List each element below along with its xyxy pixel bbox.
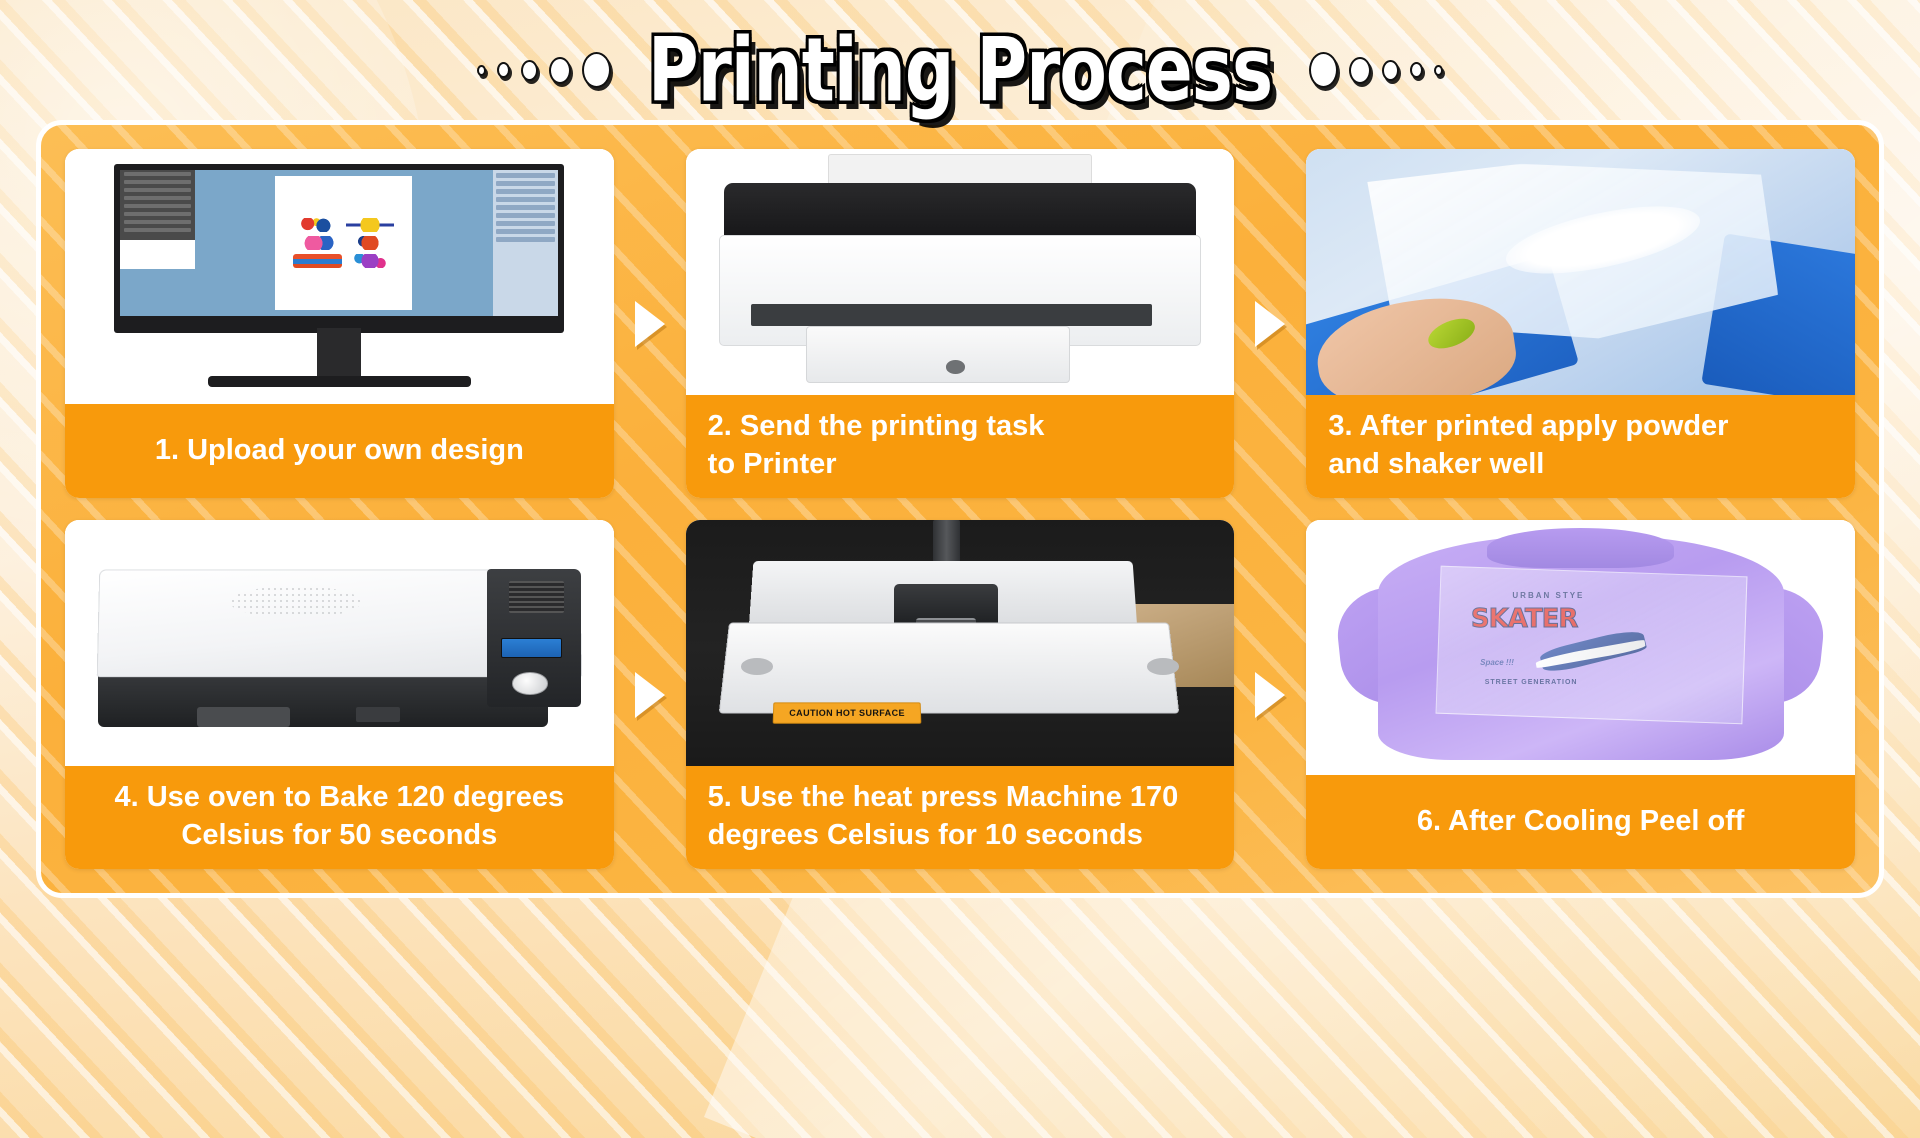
design-artwork: [346, 218, 395, 232]
step-5-caption: 5. Use the heat press Machine 170 degree…: [686, 766, 1235, 869]
step-3-caption: 3. After printed apply powder and shaker…: [1306, 395, 1855, 498]
step-card-3[interactable]: 3. After printed apply powder and shaker…: [1306, 149, 1855, 498]
design-artwork: [293, 254, 342, 268]
printer-lid: [724, 183, 1196, 240]
printer-knob: [946, 360, 965, 373]
steps-panel: 1. Upload your own design: [36, 120, 1884, 898]
step-card-2[interactable]: 2. Send the printing task to Printer: [686, 149, 1235, 498]
arrow-right-icon: [1255, 672, 1285, 718]
printer-output-tray: [806, 326, 1069, 383]
press-knob-left: [741, 658, 774, 675]
design-artwork: [293, 236, 342, 250]
oven-latch: [356, 707, 400, 722]
software-properties-panel: [493, 170, 559, 315]
title-dots-right: [1309, 52, 1443, 88]
oven-grill: [509, 581, 564, 613]
steps-grid: 1. Upload your own design: [41, 125, 1879, 893]
hoodie-icon: URBAN STYE SKATER Space !!! STREET GENER…: [1306, 520, 1855, 775]
step-4-caption-line-1: 4. Use oven to Bake 120 degrees: [87, 778, 592, 817]
hoodie-hood: [1487, 528, 1674, 569]
infographic-page: Printing Process: [0, 0, 1920, 1138]
step-6-caption: 6. After Cooling Peel off: [1306, 775, 1855, 869]
arrow-right-icon: [635, 301, 665, 347]
arrow-right-icon: [1255, 301, 1285, 347]
step-card-6[interactable]: URBAN STYE SKATER Space !!! STREET GENER…: [1306, 520, 1855, 869]
step-6-caption-line-1: 6. After Cooling Peel off: [1328, 802, 1833, 841]
step-1-caption-line-1: 1. Upload your own design: [87, 431, 592, 470]
oven-power-button[interactable]: [512, 672, 548, 694]
oven-base: [98, 672, 548, 726]
title-dot-icon: [1410, 62, 1423, 78]
software-canvas: [195, 170, 493, 315]
title-dot-icon: [521, 60, 538, 81]
title-dot-icon: [582, 52, 611, 88]
step-5-caption-line-1: 5. Use the heat press Machine 170: [708, 778, 1213, 817]
design-sheet: [275, 176, 412, 310]
step-4-caption: 4. Use oven to Bake 120 degrees Celsius …: [65, 766, 614, 869]
monitor-display: [120, 170, 558, 315]
step-4-caption-line-2: Celsius for 50 seconds: [87, 816, 592, 855]
curing-oven-icon: [65, 520, 614, 766]
title-dot-icon: [1382, 60, 1399, 81]
title-dot-icon: [1349, 57, 1371, 84]
step-4-photo: [65, 520, 614, 766]
title-dot-icon: [497, 62, 510, 78]
title-dot-icon: [1434, 65, 1443, 76]
step-2-caption-line-1: 2. Send the printing task: [708, 407, 1213, 446]
computer-monitor-icon: [65, 149, 614, 404]
step-5-photo: CAUTION HOT SURFACE: [686, 520, 1235, 766]
press-lower-platen: [719, 623, 1180, 714]
arrow-right-icon: [635, 672, 665, 718]
step-1-caption: 1. Upload your own design: [65, 404, 614, 498]
oven-lcd-display: [501, 638, 561, 658]
step-6-photo: URBAN STYE SKATER Space !!! STREET GENER…: [1306, 520, 1855, 775]
title-dots-left: [477, 52, 611, 88]
title-dot-icon: [1309, 52, 1338, 88]
step-5-caption-line-2: degrees Celsius for 10 seconds: [708, 816, 1213, 855]
powder-film-icon: [1306, 149, 1855, 395]
peel-off-film: [1436, 566, 1748, 725]
printer-icon: [686, 149, 1235, 395]
step-3-caption-line-2: and shaker well: [1328, 445, 1833, 484]
title-dot-icon: [477, 65, 486, 76]
design-artwork: [293, 218, 342, 232]
press-knob-right: [1147, 658, 1180, 675]
monitor-screen: [114, 164, 564, 332]
arrow-separator-4: [1234, 520, 1306, 869]
monitor-stand-base: [208, 376, 471, 387]
page-title: Printing Process: [642, 19, 1278, 121]
step-2-photo: [686, 149, 1235, 395]
step-3-photo: [1306, 149, 1855, 395]
page-title-row: Printing Process: [0, 22, 1920, 118]
heat-press-icon: CAUTION HOT SURFACE: [686, 520, 1235, 766]
step-card-1[interactable]: 1. Upload your own design: [65, 149, 614, 498]
caution-label: CAUTION HOT SURFACE: [773, 702, 922, 723]
arrow-separator-1: [614, 149, 686, 498]
step-card-5[interactable]: CAUTION HOT SURFACE 5. Use the heat pres…: [686, 520, 1235, 869]
monitor-stand-neck: [317, 328, 361, 379]
step-2-caption: 2. Send the printing task to Printer: [686, 395, 1235, 498]
step-card-4[interactable]: 4. Use oven to Bake 120 degrees Celsius …: [65, 520, 614, 869]
design-artwork: [346, 236, 395, 250]
title-dot-icon: [549, 57, 571, 84]
software-toolbar-panel: [120, 170, 194, 315]
step-1-photo: [65, 149, 614, 404]
step-3-caption-line-1: 3. After printed apply powder: [1328, 407, 1833, 446]
oven-handle: [197, 707, 290, 727]
arrow-separator-3: [614, 520, 686, 869]
printer-output-slot: [751, 304, 1152, 326]
step-2-caption-line-2: to Printer: [708, 445, 1213, 484]
design-artwork: [346, 254, 395, 268]
arrow-separator-2: [1234, 149, 1306, 498]
